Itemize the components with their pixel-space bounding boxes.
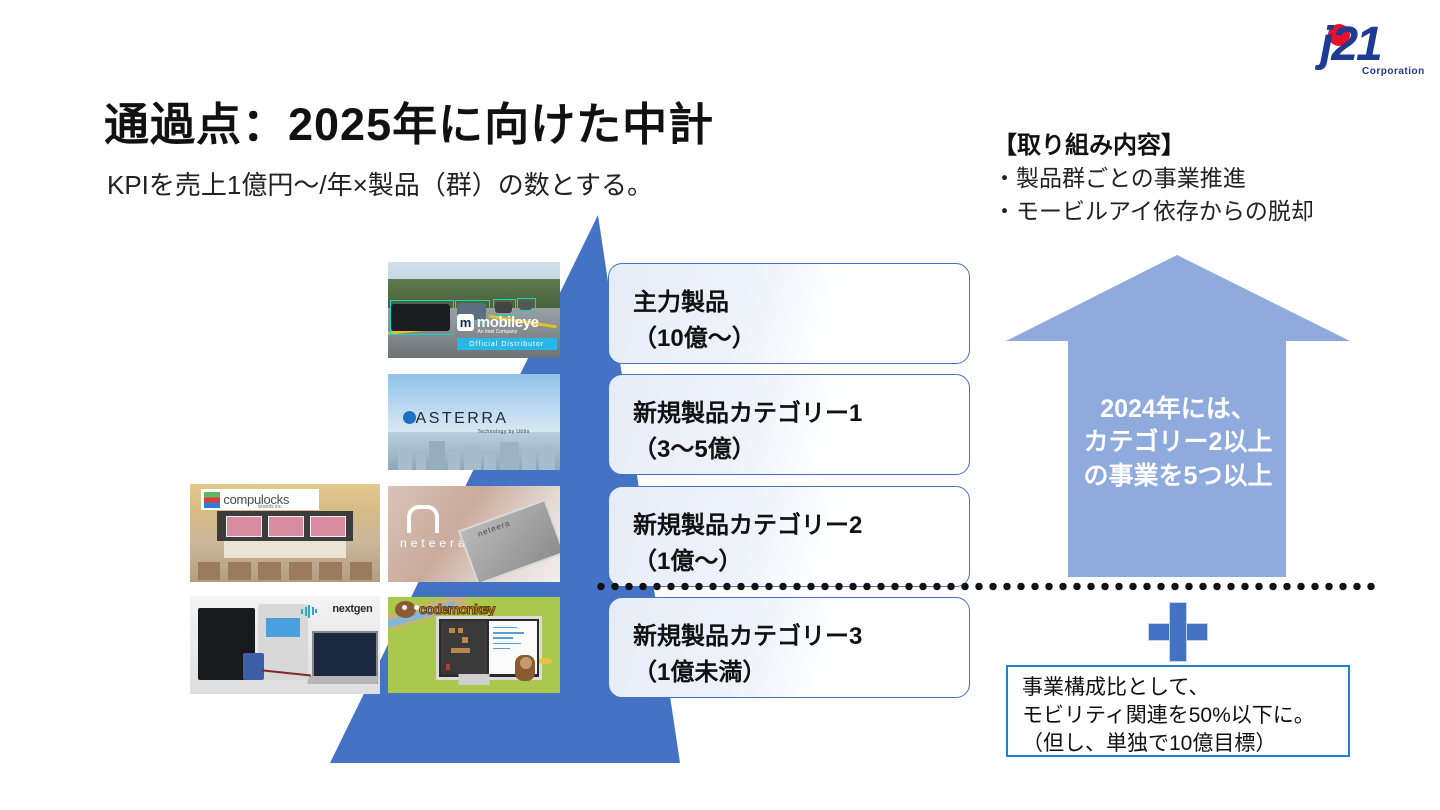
initiatives-item-1: ・モービルアイ依存からの脱却 xyxy=(993,195,1314,228)
product-thumbnail-asterra: ASTERRA Technology by Utilis xyxy=(388,374,560,470)
nextgen-name: nextgen xyxy=(332,603,372,615)
category-box-0[interactable]: 主力製品 （10億〜） xyxy=(608,263,970,364)
note-line-2: （但し、単独で10億目標） xyxy=(1022,730,1276,758)
up-arrow-text: 2024年には、 カテゴリー2以上 の事業を5つ以上 xyxy=(1028,393,1328,493)
category-range-3: （1億未満） xyxy=(633,652,766,687)
category-range-2: （1億〜） xyxy=(633,541,742,576)
initiatives-block: 【取り組み内容】 ・製品群ごとの事業推進 ・モービルアイ依存からの脱却 xyxy=(993,130,1314,228)
category-box-3[interactable]: 新規製品カテゴリー3 （1億未満） xyxy=(608,597,970,698)
category-range-0: （10億〜） xyxy=(633,318,756,353)
product-thumbnail-nextgen: nextgen xyxy=(190,596,380,694)
initiatives-heading: 【取り組み内容】 xyxy=(993,130,1314,162)
neteera-name: neteera xyxy=(400,536,469,550)
category-name-1: 新規製品カテゴリー1 xyxy=(633,393,862,428)
product-thumbnail-compulocks: compulocks brands inc. xyxy=(190,484,380,582)
neteera-mark-icon xyxy=(407,505,439,533)
logo-subtitle: Corporation xyxy=(1362,66,1425,77)
product-thumbnail-codemonkey: codemonkey xyxy=(388,597,560,693)
nextgen-wave-icon xyxy=(301,605,317,618)
asterra-name: ASTERRA xyxy=(416,410,509,428)
asterra-tagline: Technology by Utilis xyxy=(477,429,529,435)
category-range-1: （3〜5億） xyxy=(633,429,756,464)
category-name-2: 新規製品カテゴリー2 xyxy=(633,505,862,540)
compulocks-tagline: brands inc. xyxy=(258,504,282,510)
slide-canvas: j21 Corporation 通過点：2025年に向けた中計 KPIを売上1億… xyxy=(0,0,1440,810)
mobileye-badge: Official Distributor xyxy=(457,338,557,350)
note-line-0: 事業構成比として、 xyxy=(1022,674,1209,702)
initiatives-item-0: ・製品群ごとの事業推進 xyxy=(993,162,1314,195)
up-arrow-line-2: の事業を5つ以上 xyxy=(1028,460,1328,493)
company-logo: j21 Corporation xyxy=(1318,18,1428,78)
plus-icon xyxy=(1148,602,1206,660)
compulocks-mark-icon xyxy=(204,492,220,508)
category-box-2[interactable]: 新規製品カテゴリー2 （1億〜） xyxy=(608,486,970,587)
logo-wordmark: j21 xyxy=(1320,20,1428,70)
product-thumbnail-mobileye: m mobileye An Intel Company Official Dis… xyxy=(388,262,560,358)
category-name-3: 新規製品カテゴリー3 xyxy=(633,616,862,651)
note-line-1: モビリティ関連を50%以下に。 xyxy=(1022,702,1315,730)
category-box-1[interactable]: 新規製品カテゴリー1 （3〜5億） xyxy=(608,374,970,475)
page-subtitle: KPIを売上1億円〜/年×製品（群）の数とする。 xyxy=(107,165,653,202)
composition-note-box: 事業構成比として、 モビリティ関連を50%以下に。 （但し、単独で10億目標） xyxy=(1006,665,1350,757)
up-arrow-line-1: カテゴリー2以上 xyxy=(1028,426,1328,459)
product-thumbnail-neteera: neteera neteera xyxy=(388,486,560,582)
category-name-0: 主力製品 xyxy=(633,282,729,317)
up-arrow-line-0: 2024年には、 xyxy=(1028,393,1328,426)
dotted-divider xyxy=(594,582,1376,591)
mobileye-tagline: An Intel Company xyxy=(477,329,517,335)
codemonkey-name: codemonkey xyxy=(419,601,495,617)
mobileye-mark-icon: m xyxy=(457,314,474,331)
page-title: 通過点：2025年に向けた中計 xyxy=(104,88,714,153)
